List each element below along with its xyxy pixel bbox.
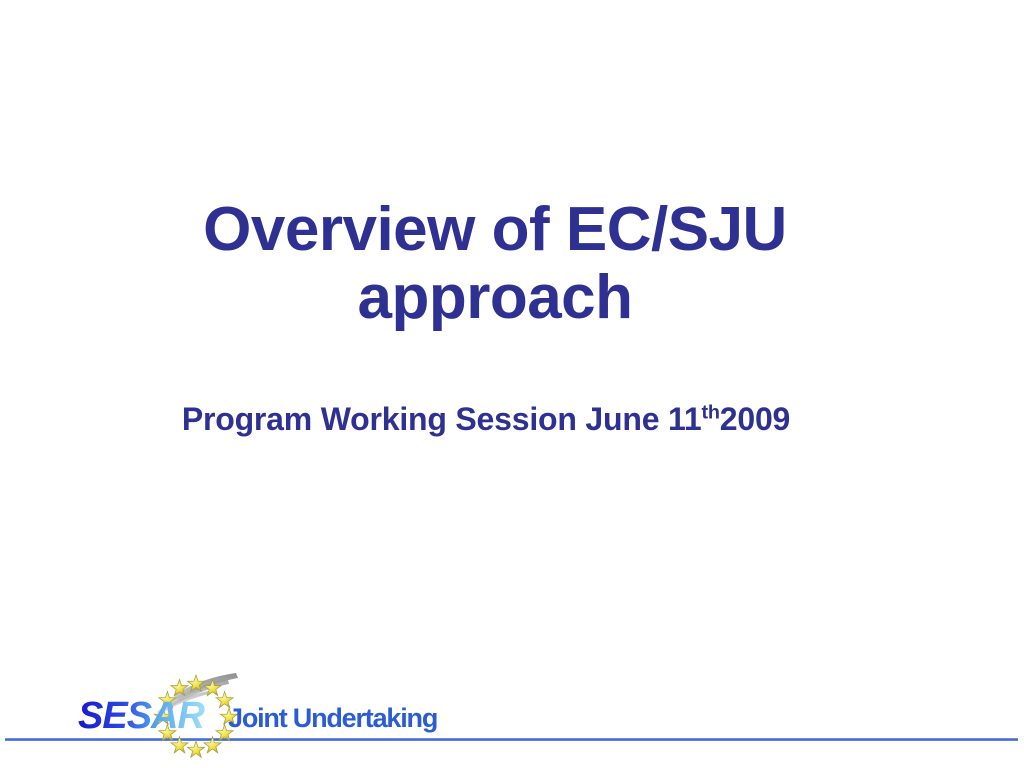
page-title: Overview of EC/SJU approach <box>160 196 830 332</box>
logo-tagline: Joint Undertaking <box>228 703 437 733</box>
logo-wordmark: SESAR <box>78 695 205 737</box>
slide-canvas: Overview of EC/SJU approach Program Work… <box>0 0 1024 768</box>
slide-subtitle: Program Working Session June 11th2009 <box>160 400 812 438</box>
subtitle-ordinal-superscript: th <box>701 401 719 423</box>
logo-graphic: SESAR Joint Undertaking <box>78 672 478 764</box>
subtitle-placeholder: Program Working Session June 11th2009 <box>160 400 812 438</box>
subtitle-year-text: 2009 <box>720 401 790 437</box>
sesar-joint-undertaking-logo: SESAR Joint Undertaking <box>78 672 478 764</box>
title-placeholder: Overview of EC/SJU approach <box>160 196 830 332</box>
subtitle-prefix-text: Program Working Session June 11 <box>182 401 702 437</box>
